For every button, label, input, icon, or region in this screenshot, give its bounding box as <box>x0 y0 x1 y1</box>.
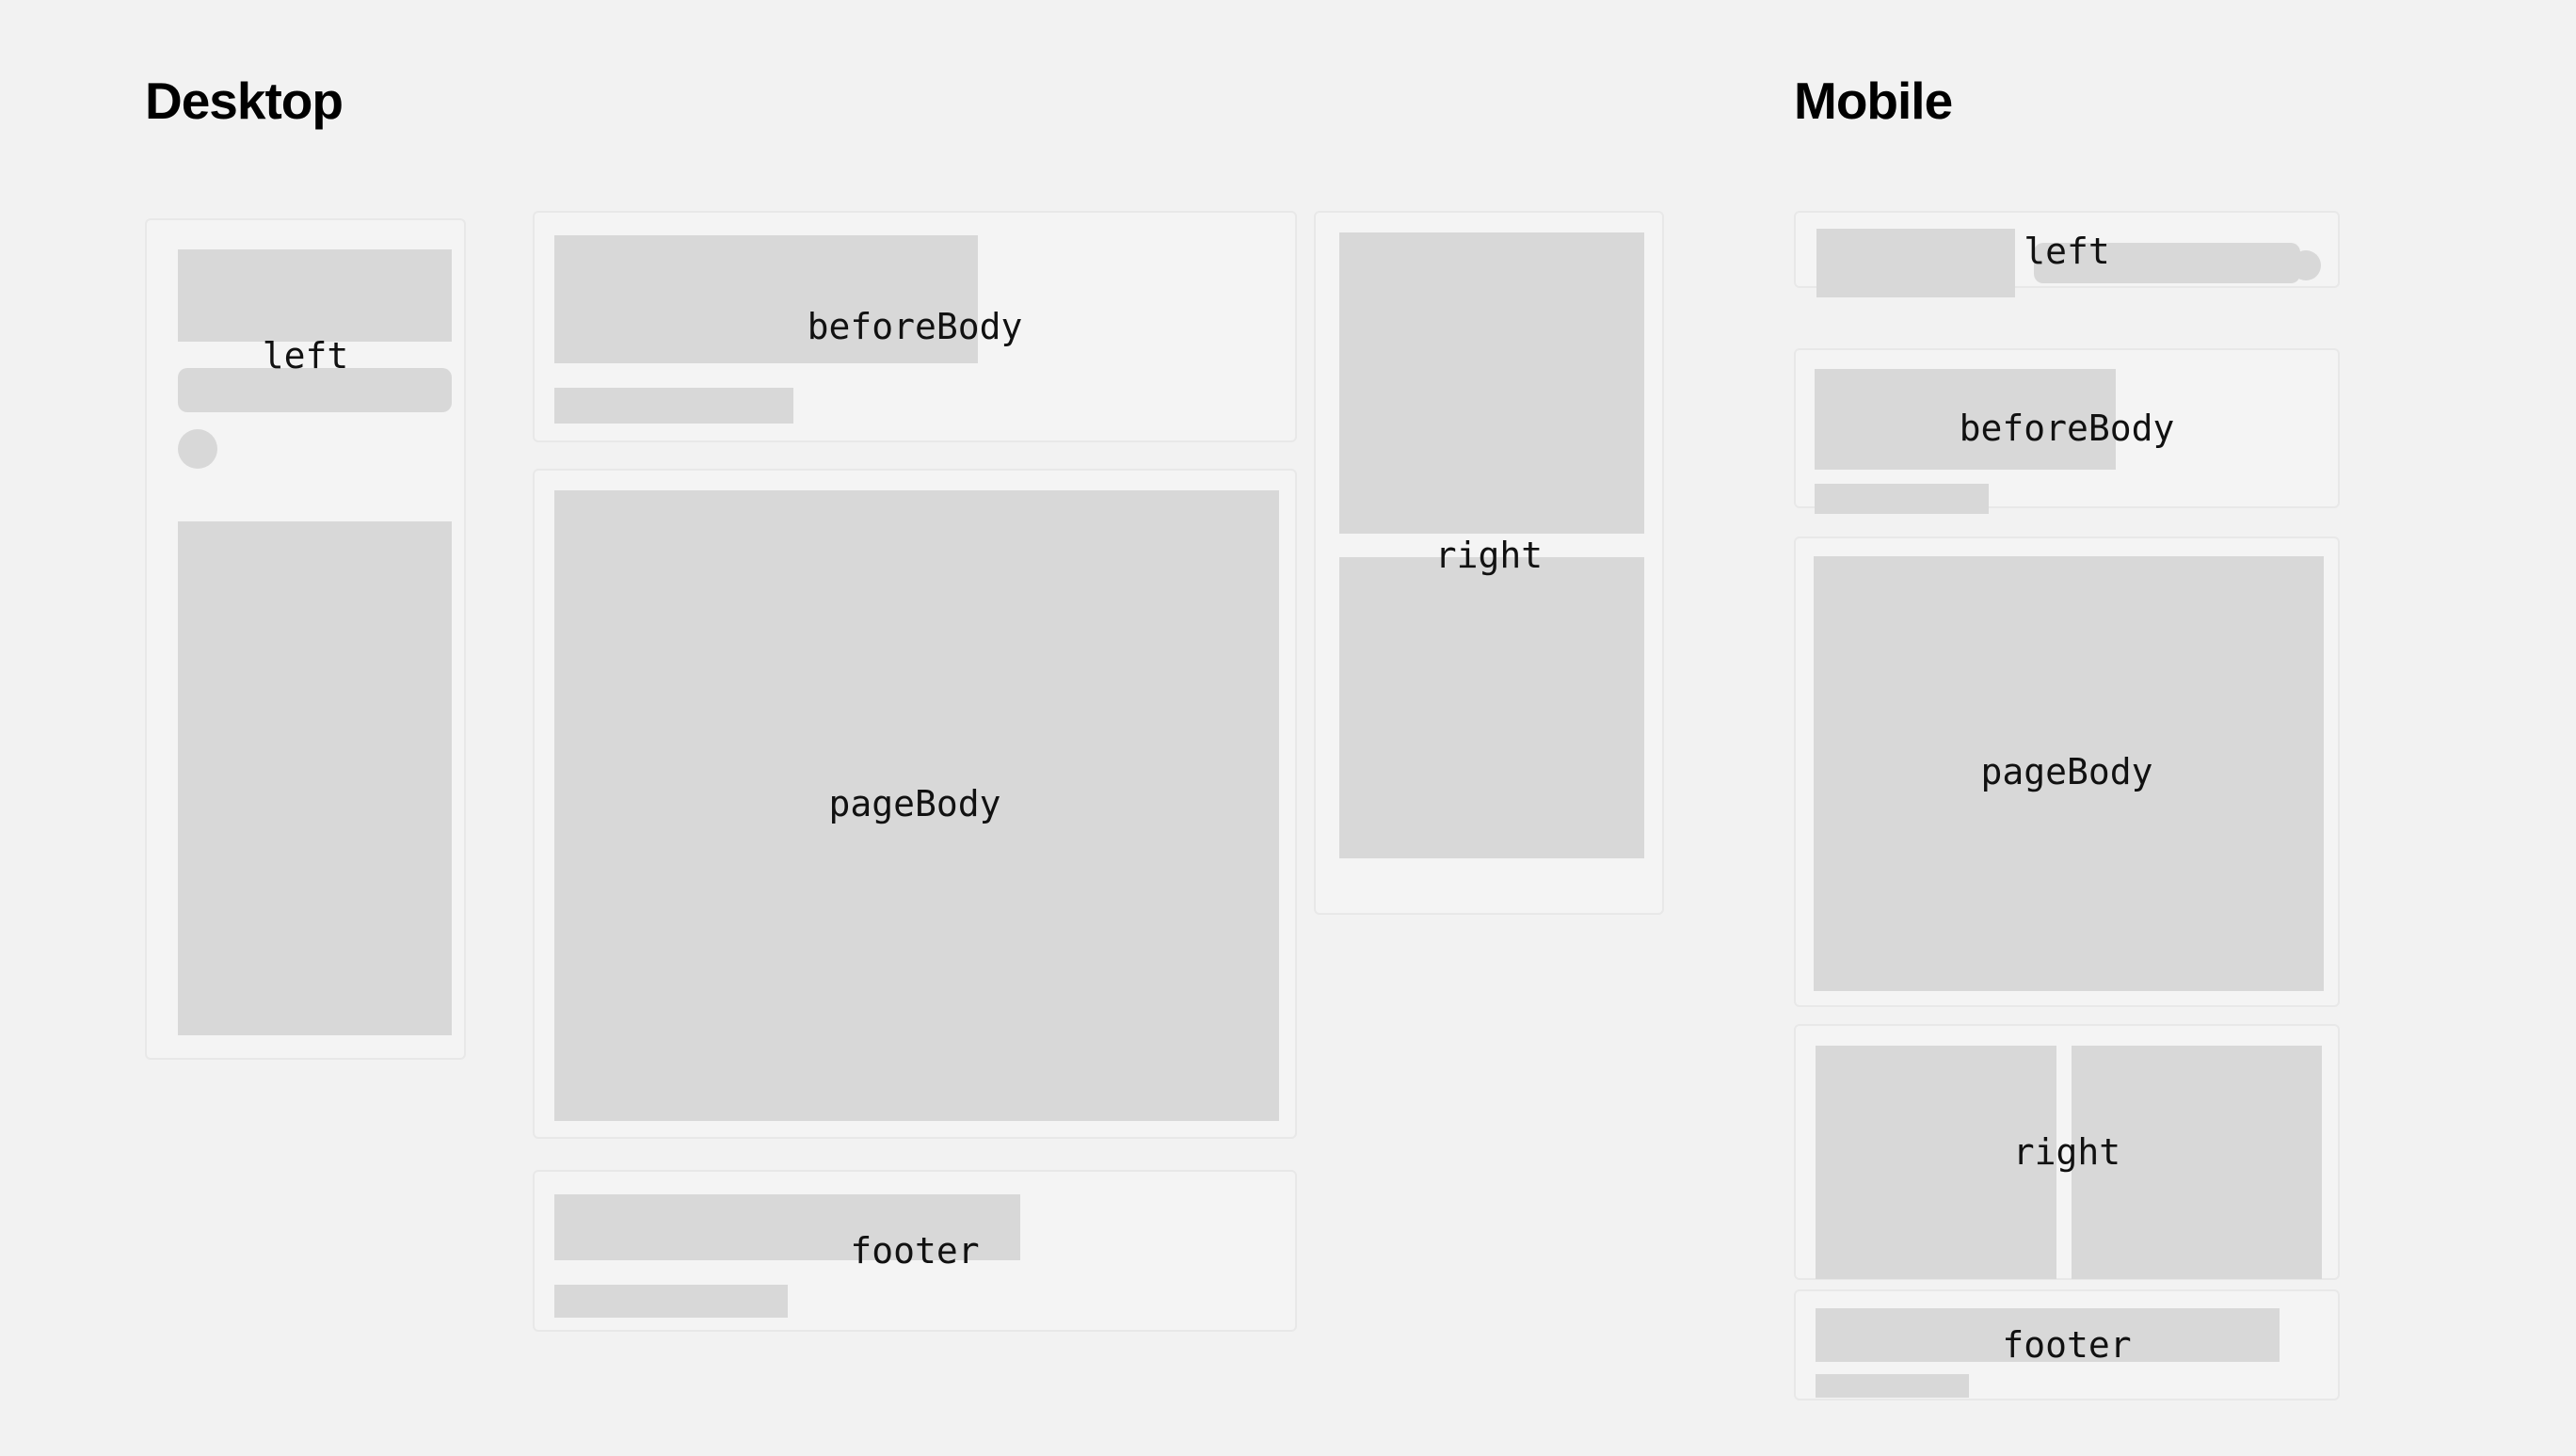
skeleton-block <box>178 249 452 342</box>
mobile-slot-left[interactable]: left <box>1794 211 2340 288</box>
mobile-slot-footer[interactable]: footer <box>1794 1289 2340 1400</box>
mobile-slot-right[interactable]: right <box>1794 1024 2340 1280</box>
skeleton-block <box>178 521 452 1035</box>
desktop-slot-footer[interactable]: footer <box>533 1170 1297 1332</box>
skeleton-block <box>554 388 793 424</box>
skeleton-block <box>1339 232 1644 534</box>
skeleton-block <box>1814 556 2324 991</box>
skeleton-block <box>1339 557 1644 858</box>
skeleton-block <box>1816 1308 2280 1362</box>
desktop-slot-page-body[interactable]: pageBody <box>533 469 1297 1139</box>
skeleton-block <box>554 1194 1020 1260</box>
skeleton-block <box>2034 243 2300 283</box>
skeleton-avatar-circle <box>2291 250 2321 280</box>
skeleton-block <box>1816 229 2015 297</box>
mobile-slot-before-body[interactable]: beforeBody <box>1794 348 2340 508</box>
skeleton-block <box>1815 484 1989 514</box>
mobile-slot-page-body[interactable]: pageBody <box>1794 536 2340 1007</box>
skeleton-block <box>554 235 978 363</box>
skeleton-block <box>554 1285 788 1318</box>
skeleton-block <box>178 368 452 412</box>
mobile-section-title: Mobile <box>1794 75 1952 127</box>
desktop-section-title: Desktop <box>145 75 343 127</box>
desktop-slot-left[interactable]: left <box>145 218 466 1060</box>
desktop-slot-right[interactable]: right <box>1314 211 1664 915</box>
layout-preview-stage: Desktop left beforeBody pageBody footer … <box>0 0 2576 1456</box>
skeleton-block <box>554 490 1279 1121</box>
skeleton-block <box>1815 369 2116 470</box>
skeleton-block <box>1816 1374 1969 1398</box>
skeleton-block <box>1816 1046 2056 1279</box>
desktop-slot-before-body[interactable]: beforeBody <box>533 211 1297 442</box>
skeleton-avatar-circle <box>178 429 217 469</box>
skeleton-block <box>2072 1046 2322 1279</box>
